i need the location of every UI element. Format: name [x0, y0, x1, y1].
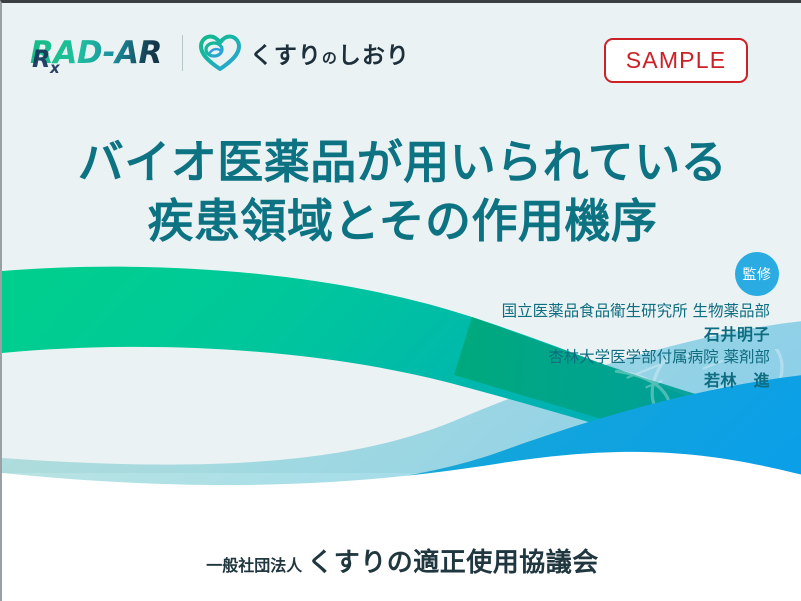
footer-org-name: くすりの適正使用協議会: [307, 548, 599, 578]
logo-divider: [182, 35, 183, 71]
supervision-credits: 国立医薬品食品衛生研究所 生物薬品部 石井明子 杏林大学医学部付属病院 薬剤部 …: [350, 300, 770, 392]
credit-name-1: 石井明子: [350, 323, 770, 346]
credit-affiliation-2: 杏林大学医学部付属病院 薬剤部: [350, 346, 770, 369]
brand-logos[interactable]: RAD-AR Rx くすりのしおり: [30, 31, 410, 75]
slide-header: RAD-AR Rx くすりのしおり: [2, 3, 801, 103]
supervision-badge-label: 監修: [743, 264, 772, 284]
footer-organization: 一般社団法人くすりの適正使用協議会: [2, 542, 801, 579]
page-title: バイオ医薬品が用いられている 疾患領域とその作用機序: [2, 133, 801, 251]
sample-badge-label: SAMPLE: [626, 47, 727, 74]
supervision-badge: 監修: [735, 252, 779, 296]
heart-pill-logo-icon[interactable]: [199, 34, 241, 72]
page-title-line-2: 疾患領域とその作用機序: [2, 192, 801, 251]
credit-name-2: 若林 進: [350, 369, 770, 392]
title-slide: RAD-AR Rx くすりのしおり: [0, 0, 801, 601]
kusuri-main-text: くすり: [250, 43, 322, 69]
sample-badge: SAMPLE: [604, 38, 748, 83]
radar-wordmark-icon[interactable]: RAD-AR Rx: [30, 38, 164, 69]
kusuri-no-shiori-label: くすりのしおり: [250, 36, 410, 70]
rx-prescription-icon: Rx: [32, 47, 59, 76]
page-title-line-1: バイオ医薬品が用いられている: [2, 133, 801, 192]
credit-affiliation-1: 国立医薬品食品衛生研究所 生物薬品部: [350, 300, 770, 323]
kusuri-shiori-text: しおり: [338, 43, 410, 69]
footer-prefix: 一般社団法人: [206, 556, 302, 575]
kusuri-no-text: の: [322, 49, 338, 67]
